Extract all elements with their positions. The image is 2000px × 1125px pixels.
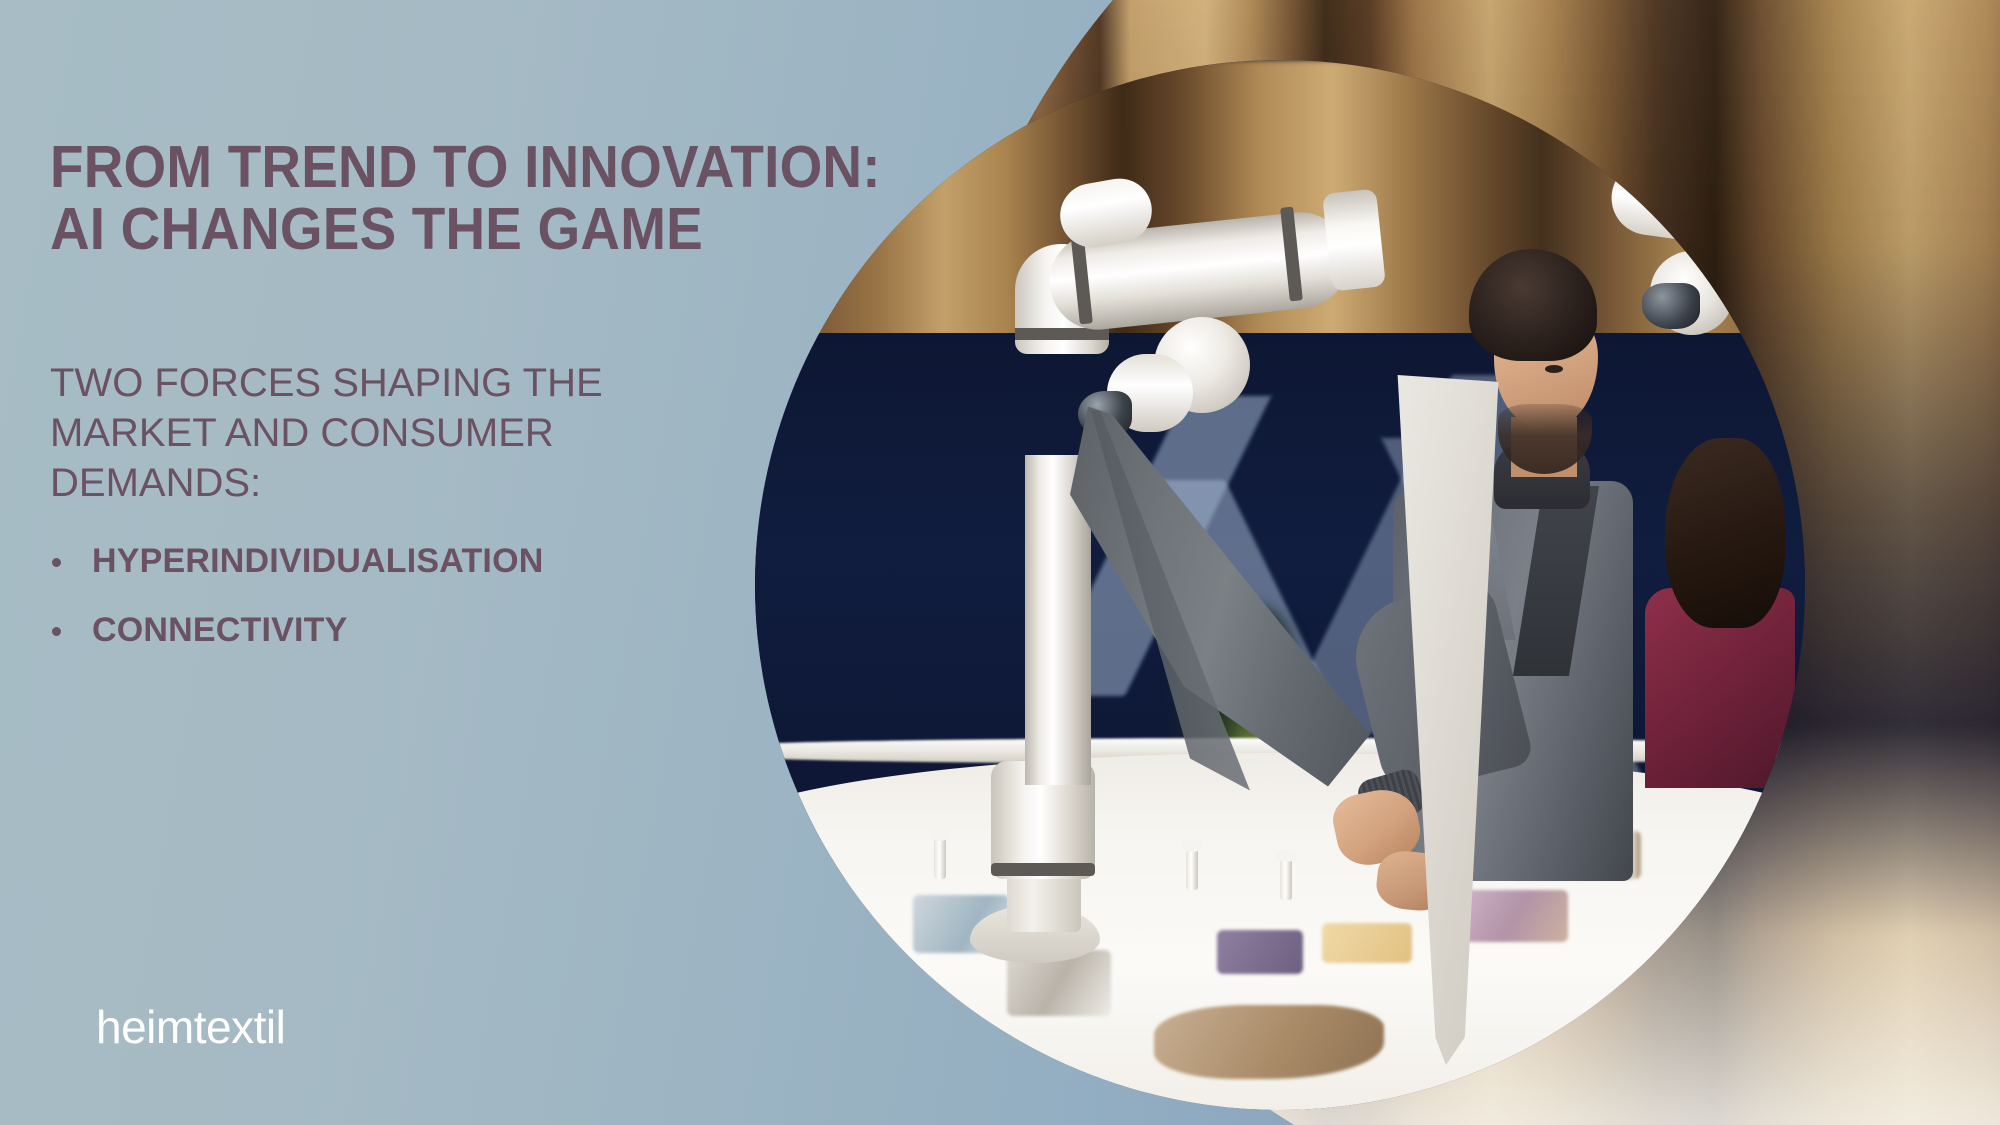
subtitle-text: TWO FORCES SHAPING THE MARKET AND CONSUM… [50,358,750,508]
list-item: CONNECTIVITY [44,609,804,652]
page-title: FROM TREND TO INNOVATION: AI CHANGES THE… [50,136,1147,261]
robot-gripper [1642,283,1700,329]
forces-list: HYPERINDIVIDUALISATION CONNECTIVITY [44,540,804,677]
heimtextil-logo: heimtextil [96,1000,285,1054]
robot-link [1607,156,1805,256]
woman-figure [1645,438,1795,778]
hair [1665,438,1785,628]
list-item: HYPERINDIVIDUALISATION [44,540,804,583]
robot-wrist-cap [1322,189,1386,292]
presentation-slide: FROM TREND TO INNOVATION: AI CHANGES THE… [0,0,2000,1125]
robot-joint-band [991,863,1095,876]
